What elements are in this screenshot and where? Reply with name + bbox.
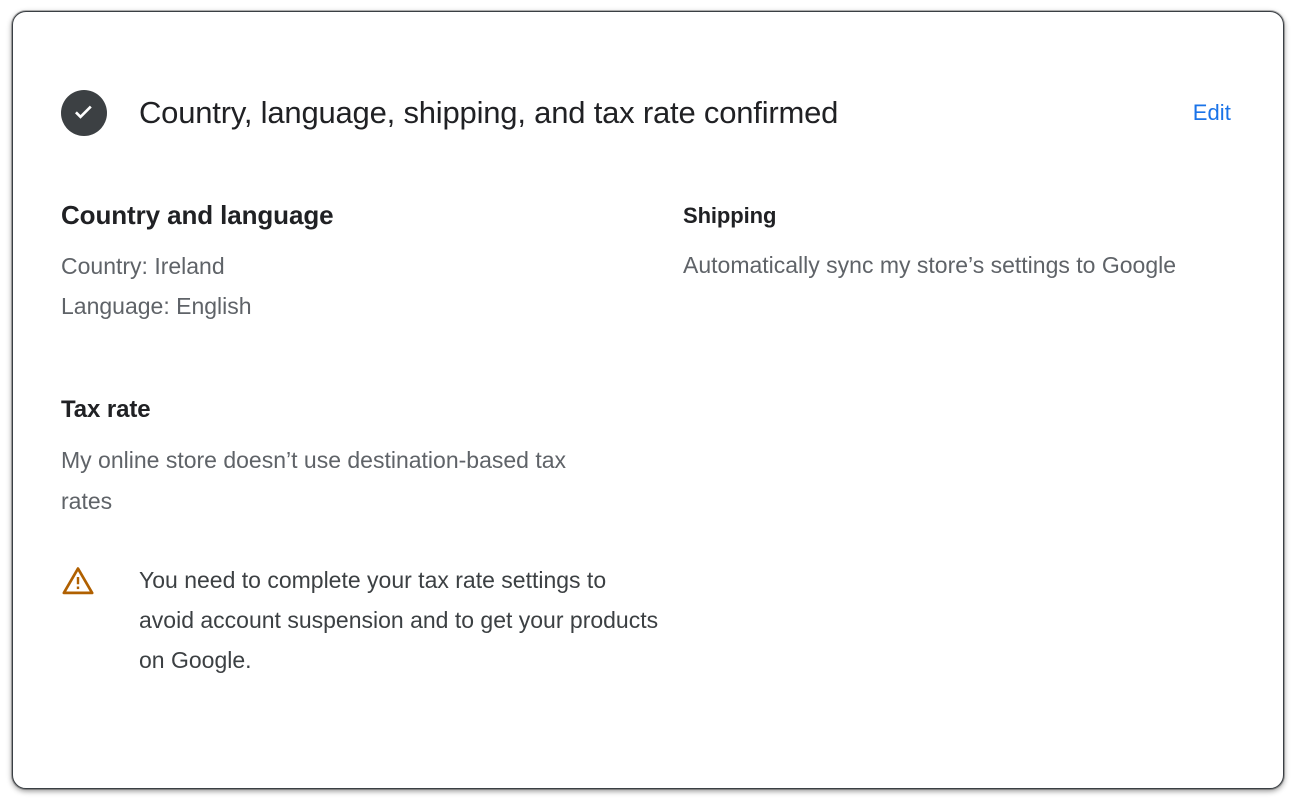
column-left: Country and language Country: Ireland La…	[61, 198, 683, 680]
summary-card: Country, language, shipping, and tax rat…	[12, 11, 1284, 789]
tax-rate-title: Tax rate	[61, 394, 683, 426]
shipping-title: Shipping	[683, 201, 1235, 231]
card-header: Country, language, shipping, and tax rat…	[13, 12, 1283, 172]
shipping-value: Automatically sync my store’s settings t…	[683, 245, 1223, 286]
card-body: Country and language Country: Ireland La…	[61, 198, 1235, 680]
country-language-title: Country and language	[61, 198, 683, 232]
tax-rate-warning: You need to complete your tax rate setti…	[61, 560, 683, 680]
column-right: Shipping Automatically sync my store’s s…	[683, 198, 1235, 286]
edit-link[interactable]: Edit	[1193, 90, 1231, 136]
section-country-language: Country and language Country: Ireland La…	[61, 198, 683, 326]
tax-rate-warning-text: You need to complete your tax rate setti…	[139, 560, 659, 680]
summary-columns: Country and language Country: Ireland La…	[61, 198, 1235, 680]
section-shipping: Shipping Automatically sync my store’s s…	[683, 201, 1235, 286]
warning-triangle-icon	[61, 564, 95, 598]
page-root: Country, language, shipping, and tax rat…	[0, 0, 1296, 800]
language-value: Language: English	[61, 286, 683, 326]
check-circle-icon	[61, 90, 107, 136]
page-title: Country, language, shipping, and tax rat…	[139, 90, 1177, 136]
country-value: Country: Ireland	[61, 246, 683, 286]
tax-rate-value: My online store doesn’t use destination-…	[61, 440, 591, 522]
section-tax-rate: Tax rate My online store doesn’t use des…	[61, 394, 683, 680]
